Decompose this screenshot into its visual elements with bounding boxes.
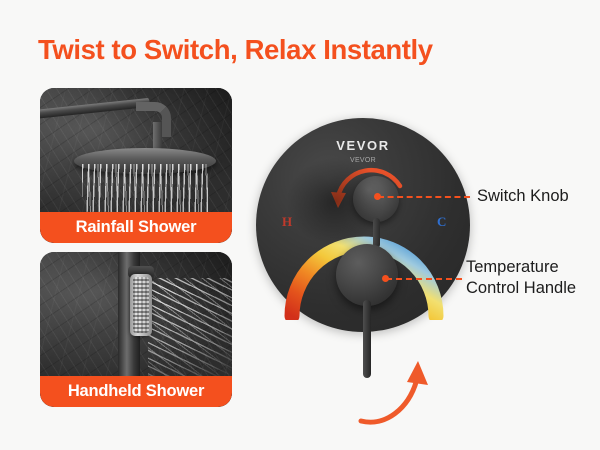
callout-label-switch-knob: Switch Knob	[477, 186, 569, 207]
card-badge-handheld: Handheld Shower	[40, 376, 232, 407]
product-card-handheld[interactable]: Handheld Shower	[40, 252, 232, 407]
brand-logo: VEVOR	[256, 138, 470, 153]
callout-label-temperature-line1: Temperature	[466, 257, 576, 278]
temperature-control-knob[interactable]	[336, 244, 398, 306]
callout-label-temperature-handle: Temperature Control Handle	[466, 257, 576, 299]
callout-label-temperature-line2: Control Handle	[466, 278, 576, 299]
switch-knob-stem	[373, 218, 380, 248]
product-card-rainfall[interactable]: Rainfall Shower	[40, 88, 232, 243]
twist-direction-arrow-icon	[355, 355, 445, 425]
leader-line-switch-knob	[378, 196, 470, 198]
handheld-shower-head	[130, 274, 152, 336]
page-title: Twist to Switch, Relax Instantly	[38, 34, 433, 66]
leader-line-temperature-handle	[386, 278, 462, 280]
water-stream-handheld	[148, 278, 232, 390]
card-badge-rainfall: Rainfall Shower	[40, 212, 232, 243]
shower-valve-trim-plate[interactable]: VEVOR VEVOR H C	[256, 118, 470, 332]
